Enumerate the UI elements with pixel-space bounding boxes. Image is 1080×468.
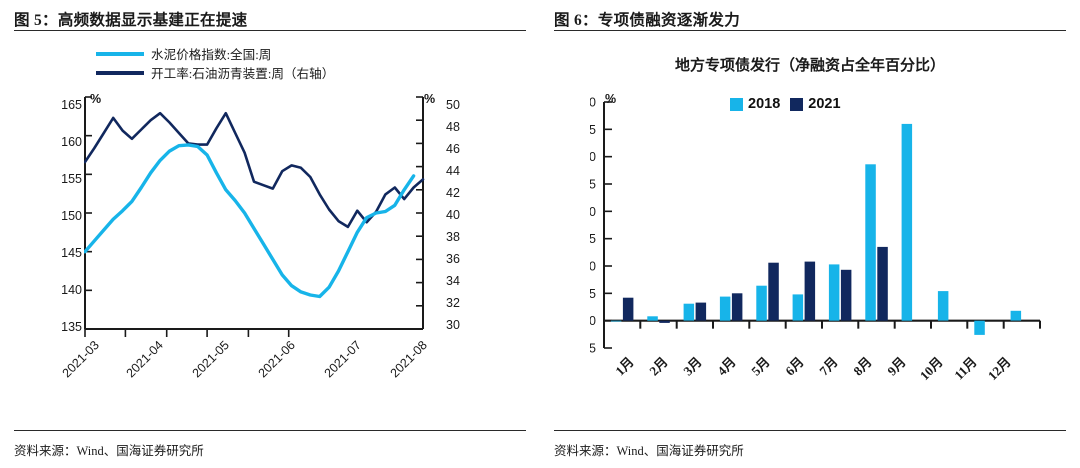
bar-2018-11月 xyxy=(974,321,985,335)
legend-swatch-cement xyxy=(96,52,144,56)
bar-2018-8月 xyxy=(865,164,876,320)
bar-2018-5月 xyxy=(756,286,767,321)
left-ytick-0: 165 xyxy=(34,98,82,112)
figure-6-source: 资料来源：Wind、国海证券研究所 xyxy=(554,440,744,459)
legend-label-cement: 水泥价格指数:全国:周 xyxy=(151,44,271,63)
right-ytick-10: 30 xyxy=(446,318,460,332)
bar-2018-3月 xyxy=(684,304,695,321)
right-ytick-3: 44 xyxy=(446,164,460,178)
bar-2021-7月 xyxy=(841,270,852,321)
right-chart-ytick-label: 30 xyxy=(590,150,596,164)
bar-2021-5月 xyxy=(768,263,779,321)
figure-5-title: 图 5：高频数据显示基建正在提速 xyxy=(14,8,247,30)
figure-5-panel: 图 5：高频数据显示基建正在提速 水泥价格指数:全国:周 开工率:石油沥青装置:… xyxy=(0,0,540,468)
figure-5-title-rule xyxy=(14,30,526,31)
right-chart-ytick-label: -5 xyxy=(590,342,596,356)
figure-6-footer-rule xyxy=(554,430,1066,431)
figure-6-title-rule xyxy=(554,30,1066,31)
figure-6-panel: 图 6：专项债融资逐渐发力 地方专项债发行（净融资占全年百分比） 2018 20… xyxy=(540,0,1080,468)
bar-2021-4月 xyxy=(732,293,743,320)
right-chart-ytick-label: 20 xyxy=(590,205,596,219)
left-ytick-1: 160 xyxy=(34,135,82,149)
bar-2018-4月 xyxy=(720,297,731,321)
right-chart-ytick-label: 10 xyxy=(590,260,596,274)
bar-2018-12月 xyxy=(1011,311,1022,321)
right-chart-plot: -50510152025303540 xyxy=(590,96,1050,356)
left-chart-legend: 水泥价格指数:全国:周 开工率:石油沥青装置:周（右轴） xyxy=(96,44,334,82)
left-ytick-4: 145 xyxy=(34,246,82,260)
bar-2018-6月 xyxy=(793,294,804,320)
right-chart-ytick-label: 35 xyxy=(590,123,596,137)
figure-6-title: 图 6：专项债融资逐渐发力 xyxy=(554,8,740,30)
right-ytick-6: 38 xyxy=(446,230,460,244)
legend-swatch-asphalt xyxy=(96,71,144,75)
left-ytick-3: 150 xyxy=(34,209,82,223)
bar-2018-7月 xyxy=(829,264,840,320)
right-ytick-4: 42 xyxy=(446,186,460,200)
right-ytick-5: 40 xyxy=(446,208,460,222)
right-ytick-9: 32 xyxy=(446,296,460,310)
legend-item-asphalt: 开工率:石油沥青装置:周（右轴） xyxy=(96,63,334,82)
right-ytick-2: 46 xyxy=(446,142,460,156)
left-ytick-6: 135 xyxy=(34,320,82,334)
bar-2021-2月 xyxy=(659,321,670,323)
bar-2021-1月 xyxy=(623,298,634,321)
screenshot-root: 图 5：高频数据显示基建正在提速 水泥价格指数:全国:周 开工率:石油沥青装置:… xyxy=(0,0,1080,468)
bar-2021-8月 xyxy=(877,247,888,321)
right-chart-title: 地方专项债发行（净融资占全年百分比） xyxy=(540,54,1080,75)
bar-2018-1月 xyxy=(611,321,622,322)
right-chart-ytick-label: 5 xyxy=(590,287,596,301)
right-chart-ytick-label: 40 xyxy=(590,96,596,110)
right-ytick-8: 34 xyxy=(446,274,460,288)
left-ytick-5: 140 xyxy=(34,283,82,297)
left-chart-plot xyxy=(84,96,444,346)
right-ytick-7: 36 xyxy=(446,252,460,266)
bar-2018-2月 xyxy=(647,316,658,320)
legend-label-asphalt: 开工率:石油沥青装置:周（右轴） xyxy=(151,63,334,82)
right-ytick-1: 48 xyxy=(446,120,460,134)
right-chart-ytick-label: 25 xyxy=(590,178,596,192)
figure-5-footer-rule xyxy=(14,430,526,431)
left-ytick-2: 155 xyxy=(34,172,82,186)
right-ytick-0: 50 xyxy=(446,98,460,112)
bar-2021-6月 xyxy=(805,262,816,321)
figure-5-source: 资料来源：Wind、国海证券研究所 xyxy=(14,440,204,459)
bar-2018-9月 xyxy=(902,124,913,321)
right-chart-ytick-label: 0 xyxy=(590,314,596,328)
bar-2018-10月 xyxy=(938,291,949,321)
bar-2021-3月 xyxy=(696,303,707,321)
legend-item-cement: 水泥价格指数:全国:周 xyxy=(96,44,334,63)
right-chart-ytick-label: 15 xyxy=(590,232,596,246)
